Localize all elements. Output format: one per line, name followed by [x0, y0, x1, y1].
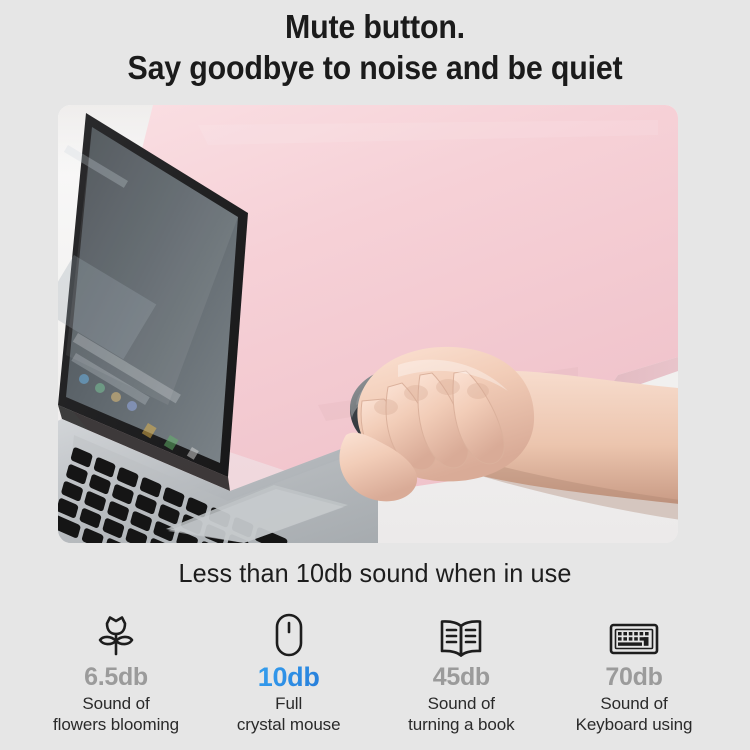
- spec-item-flower: 6.5db Sound of flowers blooming: [30, 612, 202, 735]
- spec-value: 45db: [375, 663, 547, 691]
- spec-caption-line-1: Full: [203, 693, 375, 714]
- spec-row: 6.5db Sound of flowers blooming 10db Ful…: [30, 612, 720, 735]
- spec-item-mouse: 10db Full crystal mouse: [203, 612, 375, 735]
- keyboard-icon: [548, 612, 720, 658]
- spec-caption-line-2: crystal mouse: [203, 714, 375, 735]
- headline-line-2: Say goodbye to noise and be quiet: [30, 47, 720, 88]
- open-book-icon: [375, 612, 547, 658]
- hand-on-mouse: [328, 335, 678, 543]
- spec-item-book: 45db Sound of turning a book: [375, 612, 547, 735]
- spec-caption-line-1: Sound of: [375, 693, 547, 714]
- flower-icon: [30, 612, 202, 658]
- header: Mute button. Say goodbye to noise and be…: [0, 0, 750, 98]
- spec-caption-line-2: Keyboard using: [548, 714, 720, 735]
- spec-caption-line-2: turning a book: [375, 714, 547, 735]
- spec-caption-line-1: Sound of: [548, 693, 720, 714]
- spec-value: 10db: [203, 663, 375, 691]
- spec-item-keyboard: 70db Sound of Keyboard using: [548, 612, 720, 735]
- spec-value: 6.5db: [30, 663, 202, 691]
- subtitle: Less than 10db sound when in use: [11, 558, 739, 589]
- headline-line-1: Mute button.: [30, 6, 720, 47]
- spec-caption: Full crystal mouse: [203, 693, 375, 735]
- spec-caption: Sound of turning a book: [375, 693, 547, 735]
- product-photo: [58, 105, 678, 543]
- mouse-icon: [203, 612, 375, 658]
- spec-caption-line-2: flowers blooming: [30, 714, 202, 735]
- spec-value: 70db: [548, 663, 720, 691]
- spec-caption-line-1: Sound of: [30, 693, 202, 714]
- spec-caption: Sound of flowers blooming: [30, 693, 202, 735]
- spec-caption: Sound of Keyboard using: [548, 693, 720, 735]
